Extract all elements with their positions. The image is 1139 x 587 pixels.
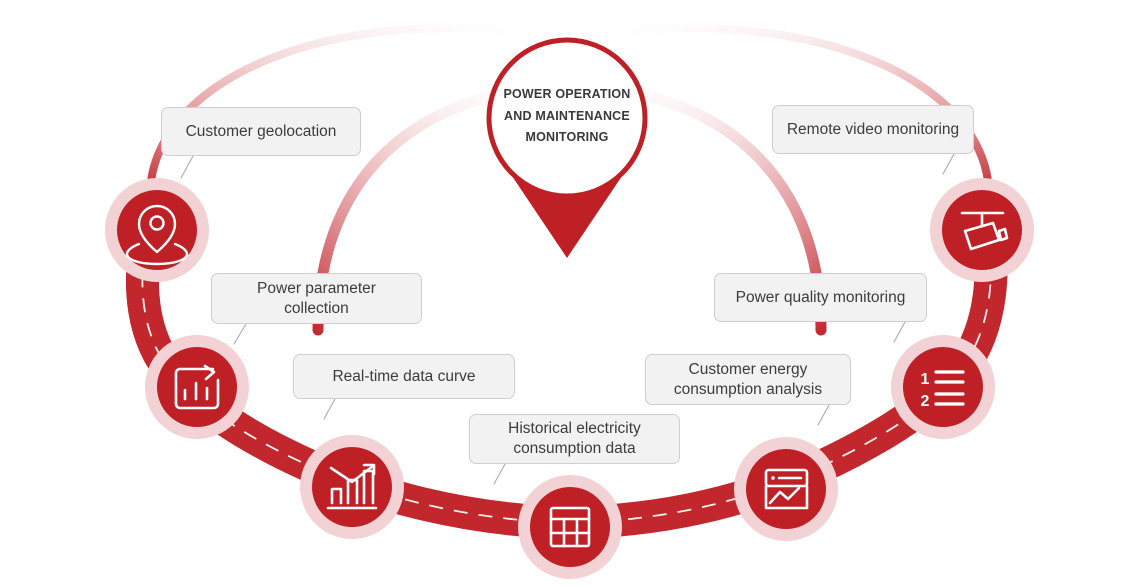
- tail-node-5: [818, 405, 829, 425]
- tail-node-3: [324, 399, 335, 419]
- label-text: Customer energy consumption analysis: [674, 360, 822, 400]
- node-disc[interactable]: [312, 447, 392, 527]
- label-remote-video-monitoring[interactable]: Remote video monitoring: [772, 105, 974, 154]
- tail-node-4: [494, 464, 505, 484]
- label-line-2: consumption analysis: [674, 381, 822, 398]
- pin-title-line-1: POWER OPERATION: [487, 84, 647, 106]
- node-historical-electricity-consumption-data[interactable]: [530, 487, 610, 567]
- tail-node-1: [181, 156, 193, 178]
- node-disc[interactable]: [746, 449, 826, 529]
- label-line-1: Power parameter: [257, 280, 376, 297]
- node-power-parameter-collection[interactable]: [157, 347, 237, 427]
- pin-title-line-2: AND MAINTENANCE: [487, 106, 647, 128]
- pin-title-line-3: MONITORING: [487, 127, 647, 149]
- label-historical-electricity-consumption-data[interactable]: Historical electricity consumption data: [469, 414, 680, 464]
- label-text: Customer geolocation: [186, 122, 337, 142]
- label-line-2: collection: [284, 300, 349, 317]
- label-customer-energy-consumption-analysis[interactable]: Customer energy consumption analysis: [645, 354, 851, 405]
- label-text: Power quality monitoring: [736, 288, 906, 308]
- label-text: Remote video monitoring: [787, 120, 959, 140]
- node-disc[interactable]: [903, 347, 983, 427]
- label-text: Real-time data curve: [332, 367, 475, 387]
- label-text: Historical electricity consumption data: [508, 419, 641, 459]
- label-line-1: Customer energy: [689, 361, 808, 378]
- center-pin-title: POWER OPERATION AND MAINTENANCE MONITORI…: [487, 84, 647, 149]
- tail-node-7: [943, 154, 954, 174]
- label-text: Power parameter collection: [257, 279, 376, 319]
- tail-node-6: [894, 322, 905, 342]
- node-disc[interactable]: [942, 190, 1022, 270]
- diagram-canvas: 1 2: [0, 0, 1139, 587]
- node-remote-video-monitoring[interactable]: [942, 190, 1022, 270]
- svg-text:1: 1: [921, 371, 930, 388]
- label-line-1: Historical electricity: [508, 420, 641, 437]
- node-customer-geolocation[interactable]: [117, 190, 197, 270]
- label-line-2: consumption data: [513, 440, 635, 457]
- node-power-quality-monitoring[interactable]: 1 2: [903, 347, 983, 427]
- label-power-parameter-collection[interactable]: Power parameter collection: [211, 273, 422, 324]
- svg-text:2: 2: [921, 393, 930, 410]
- node-disc[interactable]: [530, 487, 610, 567]
- node-real-time-data-curve[interactable]: [312, 447, 392, 527]
- tail-node-2: [234, 324, 246, 344]
- label-real-time-data-curve[interactable]: Real-time data curve: [293, 354, 515, 399]
- node-customer-energy-consumption-analysis[interactable]: [746, 449, 826, 529]
- label-customer-geolocation[interactable]: Customer geolocation: [161, 107, 361, 156]
- label-power-quality-monitoring[interactable]: Power quality monitoring: [714, 273, 927, 322]
